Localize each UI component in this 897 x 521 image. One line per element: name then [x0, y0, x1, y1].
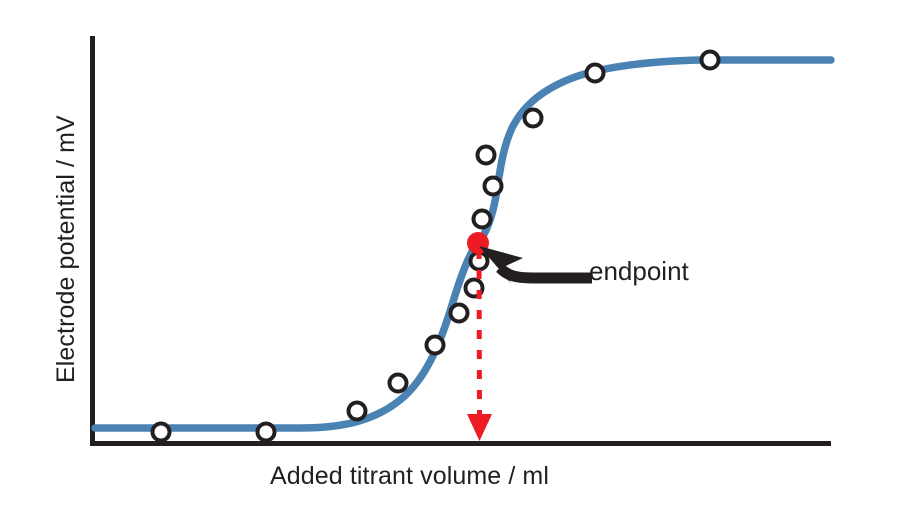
endpoint-pointer-tail: [500, 268, 592, 278]
chart-canvas: [0, 0, 897, 521]
x-axis-label: Added titrant volume / ml: [270, 462, 549, 491]
data-point-marker: [153, 424, 170, 441]
data-point-marker: [427, 337, 444, 354]
endpoint-annotation-label: endpoint: [589, 256, 689, 287]
axes-group: [90, 36, 831, 445]
titration-curve-figure: Electrode potential / mV Added titrant v…: [0, 0, 897, 521]
curve-group: [95, 60, 831, 428]
data-point-marker: [485, 178, 502, 195]
data-point-marker: [587, 65, 604, 82]
data-point-marker: [451, 305, 468, 322]
titration-curve-path: [95, 60, 831, 428]
data-point-marker: [478, 147, 495, 164]
data-point-marker: [258, 424, 275, 441]
data-point-marker: [349, 403, 366, 420]
data-point-marker: [702, 52, 719, 69]
data-point-marker: [525, 110, 542, 127]
endpoint-drop-line: [479, 250, 480, 418]
data-point-marker: [474, 211, 491, 228]
y-axis-label: Electrode potential / mV: [52, 115, 81, 383]
endpoint-pointer-arrow: [479, 246, 592, 284]
data-markers-group: [153, 52, 719, 441]
endpoint-drop-arrowhead: [467, 414, 492, 441]
data-point-marker: [390, 375, 407, 392]
